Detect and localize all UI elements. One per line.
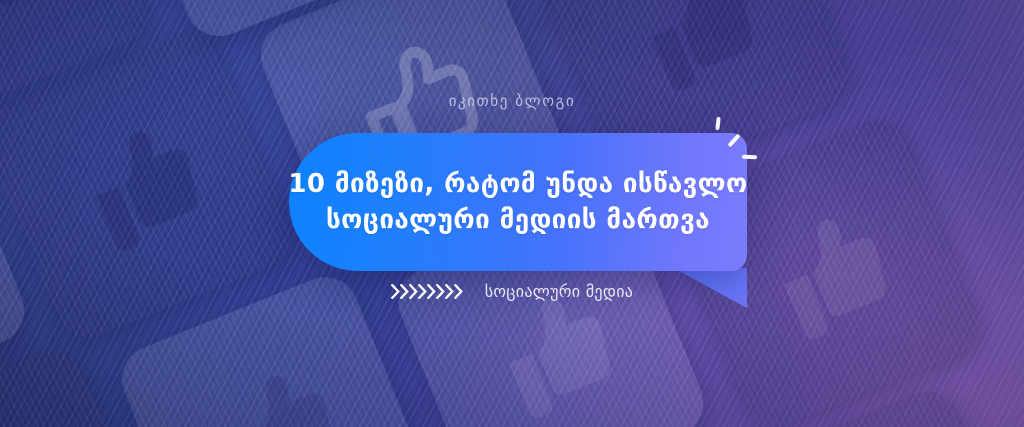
category-row: სოციალური მედია: [0, 282, 1024, 301]
chevron-right-icon: [391, 284, 400, 299]
thumbs-up-icon: [450, 251, 652, 427]
category-label: სოციალური მედია: [485, 282, 633, 301]
chevron-right-icon: [436, 284, 445, 299]
eyebrow-label: იკითხე ბლოგი: [0, 92, 1024, 110]
thumbs-up-icon: [726, 172, 928, 374]
chevron-right-icon: [454, 284, 463, 299]
blog-hero-banner: იკითხე ბლოგი 10 მიზეზი, რატომ უნდა ისწავ…: [0, 0, 1024, 427]
thumbs-up-tile: [714, 381, 1024, 427]
headline-block: 10 მიზეზი, რატომ უნდა ისწავლო სოციალური …: [289, 133, 747, 271]
sparkle-dash-icon: [742, 155, 757, 160]
chevron-right-icon: [400, 284, 409, 299]
sparkle-dash-icon: [715, 117, 720, 130]
thumbs-up-tile: [0, 97, 35, 422]
chevron-right-icon: [445, 284, 454, 299]
thumbs-up-tile: [107, 0, 432, 46]
headline-line-2: სოციალური მედიის მართვა: [326, 206, 710, 234]
thumbs-up-icon: [0, 0, 95, 63]
thumbs-up-icon: [37, 84, 239, 286]
thumbs-up-icon: [174, 328, 376, 427]
headline-line-1: 10 მიზეზი, რატომ უნდა ისწავლო: [288, 170, 747, 198]
chevron-group: [391, 284, 463, 299]
chevron-right-icon: [409, 284, 418, 299]
chevron-right-icon: [418, 284, 427, 299]
chevron-right-icon: [427, 284, 436, 299]
thumbs-up-tile: [0, 341, 165, 427]
thumbs-up-icon: [0, 403, 104, 427]
